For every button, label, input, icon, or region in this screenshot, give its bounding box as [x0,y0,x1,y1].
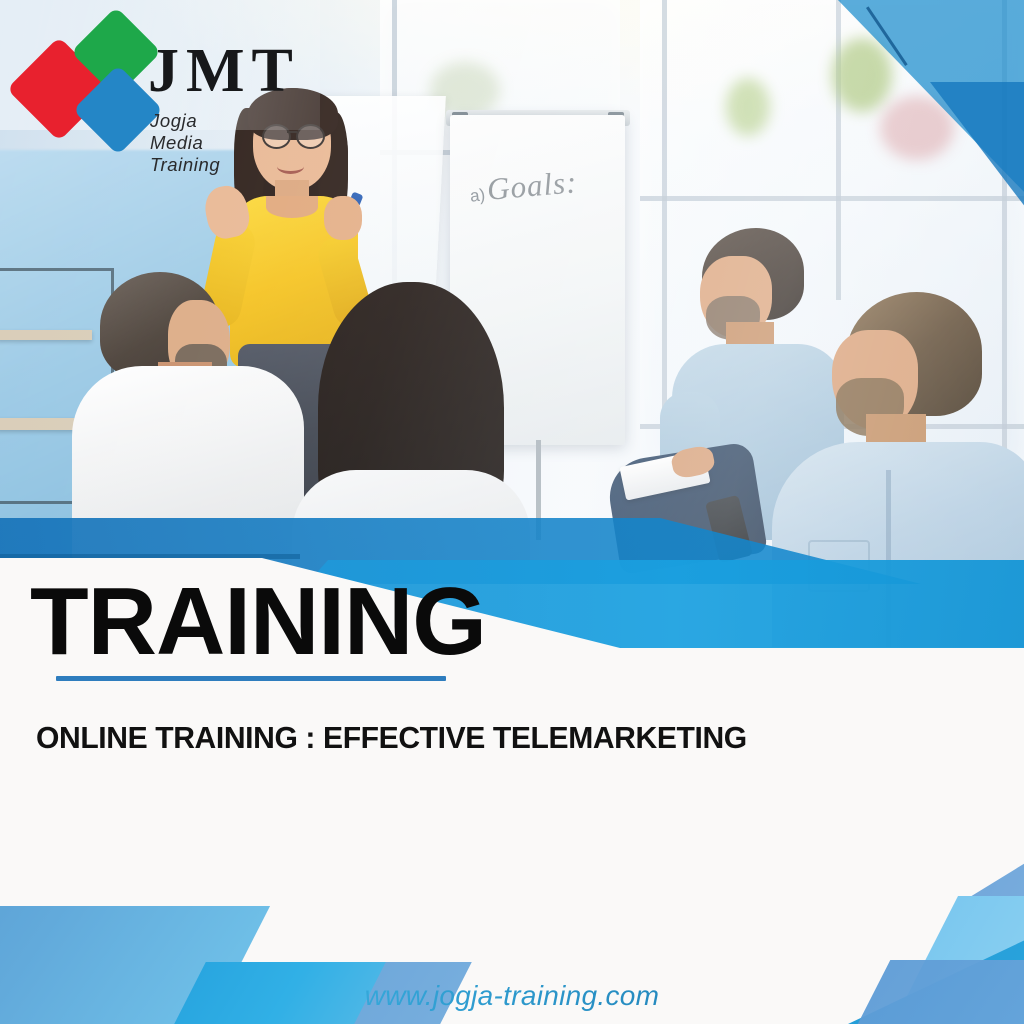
logo-initials: JMT [148,40,300,102]
promo-poster: a) Goals: [0,0,1024,1024]
logo-tagline: Jogja Media Training [150,110,220,176]
title-underline [56,676,446,681]
presenter-right-hand [324,196,362,240]
window-mullion [836,0,841,300]
website-url[interactable]: www.jogja-training.com [0,980,1024,1012]
page-title: TRAINING [30,574,486,670]
shelf-board [0,330,92,340]
glasses-bridge [287,131,297,133]
foliage-blob [832,38,892,112]
window-transom [640,196,1024,201]
whiteboard-bullet: a) [469,185,486,206]
course-subtitle: ONLINE TRAINING : EFFECTIVE TELEMARKETIN… [36,720,747,756]
presenter-smile [277,159,304,174]
foliage-blob [726,78,770,136]
presenter-collar [266,196,318,218]
